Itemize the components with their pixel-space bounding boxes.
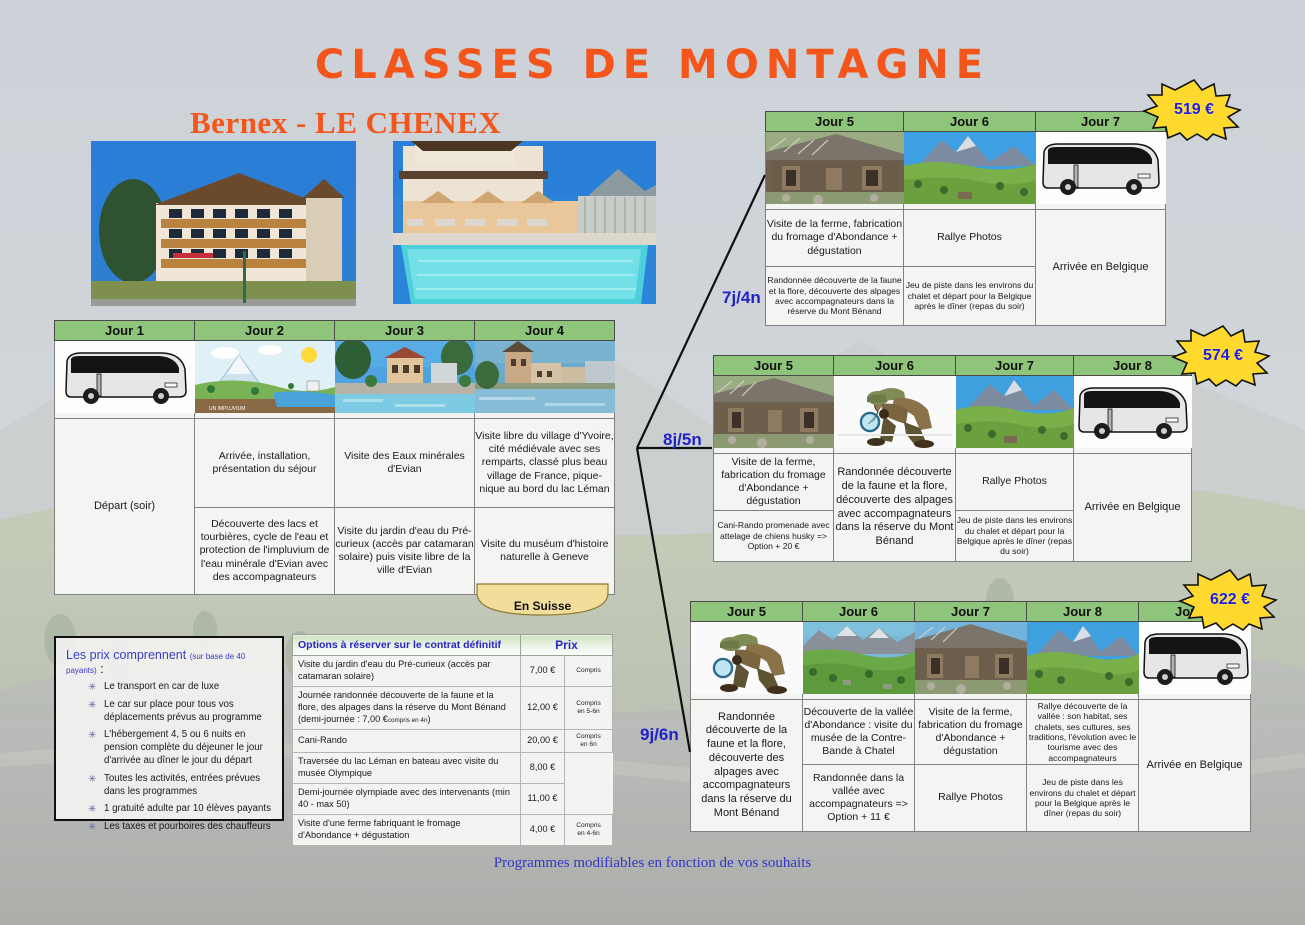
base-itinerary-table: Jour 1 Jour 2 Jour 3 Jour 4 xyxy=(54,320,615,595)
asterisk-bullet-icon: ✳ xyxy=(88,773,96,786)
activity-cell: Jeu de piste dans les environs du chalet… xyxy=(904,267,1036,326)
coach-bus-icon xyxy=(1139,622,1251,700)
list-item: ✳Le transport en car de luxe xyxy=(66,681,274,694)
option-label: Traversée du lac Léman en bateau avec vi… xyxy=(293,753,521,784)
table-row: Cani-Rando 20,00 € Comprisen 6n xyxy=(293,729,613,752)
price-label: 574 € xyxy=(1168,325,1278,387)
activity-cell: Visite libre du village d'Yvoire, cité m… xyxy=(475,419,615,508)
day-header: Jour 7 xyxy=(956,356,1074,376)
variant-table-9j6n: Jour 5 Jour 6 Jour 7 Jour 8 Jour 9 xyxy=(690,601,1251,832)
option-price: 8,00 € xyxy=(521,753,565,784)
day-header: Jour 5 xyxy=(691,602,803,622)
activity-cell: Rallye découverte de la vallée : son hab… xyxy=(1027,700,1139,765)
table-activity-row-1: Visite de la ferme, fabrication du froma… xyxy=(714,454,1192,511)
option-label: Cani-Rando xyxy=(293,729,521,752)
price-badge-9j6n: 622 € xyxy=(1175,569,1285,631)
activity-cell: Visite de la ferme, fabrication du froma… xyxy=(915,700,1027,765)
svg-text:UN IMPLUVIUM: UN IMPLUVIUM xyxy=(209,406,245,412)
table-header-row: Jour 5 Jour 6 Jour 7 Jour 8 xyxy=(714,356,1192,376)
activity-cell: Visite de la ferme, fabrication du froma… xyxy=(714,454,834,511)
day-header: Jour 5 xyxy=(766,112,904,132)
day-header: Jour 1 xyxy=(55,321,195,341)
includes-box: Les prix comprennent (sur base de 40 pay… xyxy=(54,636,284,821)
mountain-pasture-photo xyxy=(1027,622,1139,700)
table-row: Traversée du lac Léman en bateau avec vi… xyxy=(293,753,613,784)
evian-lakeside-photo xyxy=(335,341,475,419)
activity-cell: Arrivée en Belgique xyxy=(1074,454,1192,562)
activity-cell: Jeu de piste dans les environs du chalet… xyxy=(1027,765,1139,832)
table-activity-row-1: Randonnée découverte de la faune et la f… xyxy=(691,700,1251,765)
variant-table-7j4n: Jour 5 Jour 6 Jour 7 xyxy=(765,111,1166,326)
list-item-label: Les taxes et pourboires des chauffeurs xyxy=(104,821,271,832)
alpine-chalet-photo xyxy=(766,132,904,210)
table-header-row: Jour 5 Jour 6 Jour 7 Jour 8 Jour 9 xyxy=(691,602,1251,622)
includes-title-colon: : xyxy=(100,662,103,676)
list-item: ✳L'hébergement 4, 5 ou 6 nuits en pensio… xyxy=(66,729,274,767)
page-title: CLASSES DE MONTAGNE xyxy=(0,42,1305,88)
option-note-line1: Compris xyxy=(576,822,601,829)
mountain-pasture-photo xyxy=(956,376,1074,454)
includes-list: ✳Le transport en car de luxe ✳Le car sur… xyxy=(66,681,274,834)
en-suisse-label: En Suisse xyxy=(475,583,610,617)
list-item-label: Le car sur place pour tous vos déplaceme… xyxy=(104,699,262,723)
day-header: Jour 6 xyxy=(904,112,1036,132)
option-note-line1: Compris xyxy=(576,733,601,740)
option-note xyxy=(565,753,613,784)
table-row: Demi-journée olympiade avec des interven… xyxy=(293,784,613,815)
variant-table-8j5n: Jour 5 Jour 6 Jour 7 Jour 8 xyxy=(713,355,1192,562)
option-label: Visite d'une ferme fabriquant le fromage… xyxy=(293,815,521,846)
list-item: ✳1 gratuité adulte par 10 élèves payants xyxy=(66,803,274,816)
day-header: Jour 6 xyxy=(834,356,956,376)
option-price: 7,00 € xyxy=(521,656,565,687)
subtitle: Bernex - LE CHENEX xyxy=(190,105,501,141)
option-note: Comprisen 5-6n xyxy=(565,686,613,729)
day-header: Jour 4 xyxy=(475,321,615,341)
list-item-label: Le transport en car de luxe xyxy=(104,681,219,692)
option-price: 12,00 € xyxy=(521,686,565,729)
activity-cell: Randonnée découverte de la faune et la f… xyxy=(834,454,956,562)
activity-cell: Arrivée en Belgique xyxy=(1036,210,1166,326)
table-header-row: Jour 1 Jour 2 Jour 3 Jour 4 xyxy=(55,321,615,341)
table-image-row xyxy=(714,376,1192,454)
alpine-chalet-photo xyxy=(714,376,834,454)
table-header-row: Jour 5 Jour 6 Jour 7 xyxy=(766,112,1166,132)
coach-bus-icon xyxy=(55,341,195,419)
hotel-exterior-photo xyxy=(91,141,356,306)
option-price: 11,00 € xyxy=(521,784,565,815)
options-price-header: Prix xyxy=(521,635,613,656)
table-image-row xyxy=(691,622,1251,700)
option-label: Journée randonnée découverte de la faune… xyxy=(293,686,521,729)
activity-cell: Visite de la ferme, fabrication du froma… xyxy=(766,210,904,267)
day-header: Jour 2 xyxy=(195,321,335,341)
option-label-small: compris en 4n xyxy=(388,717,428,724)
option-note xyxy=(565,784,613,815)
activity-cell: Randonnée découverte de la faune et la f… xyxy=(766,267,904,326)
mountain-pasture-photo xyxy=(904,132,1036,210)
activity-cell: Rallye Photos xyxy=(915,765,1027,832)
option-label: Visite du jardin d'eau du Pré-curieux (a… xyxy=(293,656,521,687)
list-item-label: L'hébergement 4, 5 ou 6 nuits en pension… xyxy=(104,729,263,766)
activity-cell: Visite des Eaux minérales d'Evian xyxy=(335,419,475,508)
activity-cell: Rallye Photos xyxy=(904,210,1036,267)
activity-cell: Découverte de la vallée d'Abondance : vi… xyxy=(803,700,915,765)
list-item: ✳Le car sur place pour tous vos déplacem… xyxy=(66,699,274,725)
activity-cell: Rallye Photos xyxy=(956,454,1074,511)
option-note-line2: en 6n xyxy=(580,741,597,748)
activity-cell: Jeu de piste dans les environs du chalet… xyxy=(956,511,1074,562)
option-note-line2: en 4-6n xyxy=(577,830,599,837)
day-header: Jour 6 xyxy=(803,602,915,622)
asterisk-bullet-icon: ✳ xyxy=(88,803,96,816)
includes-title-text: Les prix comprennent xyxy=(66,648,186,662)
price-badge-7j4n: 519 € xyxy=(1139,79,1249,141)
list-item-label: 1 gratuité adulte par 10 élèves payants xyxy=(104,803,271,814)
price-badge-8j5n: 574 € xyxy=(1168,325,1278,387)
price-label: 519 € xyxy=(1139,79,1249,141)
price-label: 622 € xyxy=(1175,569,1285,631)
duration-label-9j6n: 9j/6n xyxy=(640,725,679,745)
asterisk-bullet-icon: ✳ xyxy=(88,729,96,742)
option-note: Comprisen 4-6n xyxy=(565,815,613,846)
options-header-row: Options à réserver sur le contrat défini… xyxy=(293,635,613,656)
table-activity-row-1: Départ (soir) Arrivée, installation, pré… xyxy=(55,419,615,508)
yvoire-castle-photo xyxy=(475,341,615,419)
option-label-end: ) xyxy=(427,714,430,724)
table-activity-row-1: Visite de la ferme, fabrication du froma… xyxy=(766,210,1166,267)
activity-cell: Arrivée en Belgique xyxy=(1139,700,1251,832)
options-header: Options à réserver sur le contrat défini… xyxy=(293,635,521,656)
abondance-valley-photo xyxy=(803,622,915,700)
coach-bus-icon xyxy=(1036,132,1166,210)
day-header: Jour 8 xyxy=(1027,602,1139,622)
day-header: Jour 7 xyxy=(915,602,1027,622)
option-note-line1: Compris xyxy=(576,700,601,707)
day-header: Jour 5 xyxy=(714,356,834,376)
duration-label-7j4n: 7j/4n xyxy=(722,288,761,308)
activity-cell: Découverte des lacs et tourbières, cycle… xyxy=(195,508,335,595)
day-header: Jour 3 xyxy=(335,321,475,341)
detective-magnifier-icon xyxy=(834,376,956,454)
table-row: Journée randonnée découverte de la faune… xyxy=(293,686,613,729)
table-row: Visite du jardin d'eau du Pré-curieux (a… xyxy=(293,656,613,687)
option-price: 4,00 € xyxy=(521,815,565,846)
duration-label-8j5n: 8j/5n xyxy=(663,430,702,450)
includes-title: Les prix comprennent (sur base de 40 pay… xyxy=(66,648,274,676)
footer-note: Programmes modifiables en fonction de vo… xyxy=(0,855,1305,872)
option-note-line1: Compris xyxy=(576,667,601,674)
options-table: Options à réserver sur le contrat défini… xyxy=(292,634,613,846)
list-item-label: Toutes les activités, entrées prévues da… xyxy=(104,773,260,797)
list-item: ✳Toutes les activités, entrées prévues d… xyxy=(66,773,274,799)
asterisk-bullet-icon: ✳ xyxy=(88,699,96,712)
activity-cell: Visite du muséum d'histoire naturelle à … xyxy=(475,508,615,595)
en-suisse-badge: En Suisse xyxy=(475,583,610,617)
activity-cell: Randonnée dans la vallée avec accompagna… xyxy=(803,765,915,832)
options-table-wrap: Options à réserver sur le contrat défini… xyxy=(292,634,612,846)
option-label: Demi-journée olympiade avec des interven… xyxy=(293,784,521,815)
activity-cell: Cani-Rando promenade avec attelage de ch… xyxy=(714,511,834,562)
activity-cell: Arrivée, installation, présentation du s… xyxy=(195,419,335,508)
option-note: Comprisen 6n xyxy=(565,729,613,752)
list-item: ✳Les taxes et pourboires des chauffeurs xyxy=(66,821,274,834)
activity-cell: Visite du jardin d'eau du Pré-curieux (a… xyxy=(335,508,475,595)
swimming-pool-photo xyxy=(393,141,656,304)
coach-bus-icon xyxy=(1074,376,1192,454)
asterisk-bullet-icon: ✳ xyxy=(88,821,96,834)
detective-magnifier-icon xyxy=(691,622,803,700)
alpine-chalet-photo xyxy=(915,622,1027,700)
activity-cell: Randonnée découverte de la faune et la f… xyxy=(691,700,803,832)
table-image-row xyxy=(766,132,1166,210)
asterisk-bullet-icon: ✳ xyxy=(88,681,96,694)
option-price: 20,00 € xyxy=(521,729,565,752)
table-row: Visite d'une ferme fabriquant le fromage… xyxy=(293,815,613,846)
table-image-row: UN IMPLUVIUM xyxy=(55,341,615,419)
option-note-line2: en 5-6n xyxy=(577,708,599,715)
water-cycle-diagram: UN IMPLUVIUM xyxy=(195,341,335,419)
option-note: Compris xyxy=(565,656,613,687)
activity-cell: Départ (soir) xyxy=(55,419,195,595)
